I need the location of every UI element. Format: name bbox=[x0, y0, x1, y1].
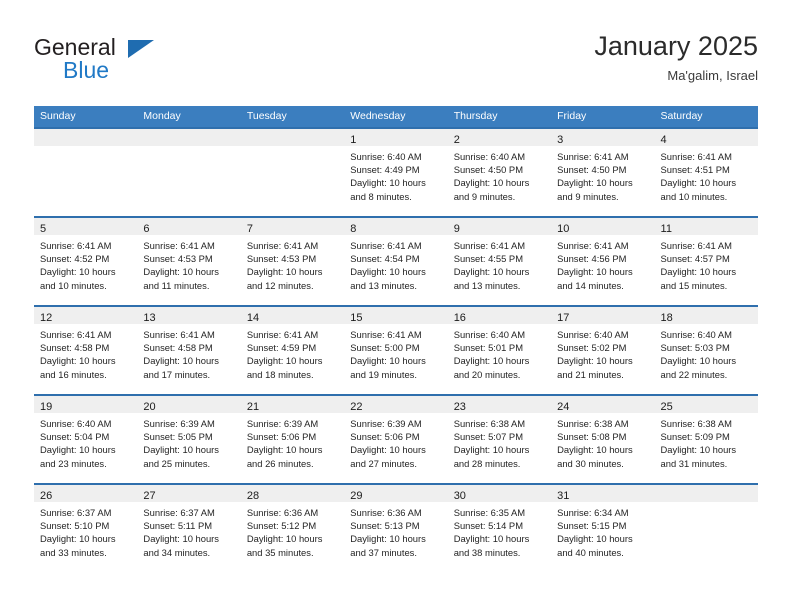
calendar-day-cell[interactable]: 25Sunrise: 6:38 AMSunset: 5:09 PMDayligh… bbox=[655, 394, 758, 483]
sunset-line: Sunset: 4:58 PM bbox=[143, 341, 235, 354]
sunrise-line: Sunrise: 6:41 AM bbox=[40, 239, 132, 252]
sunrise-line: Sunrise: 6:41 AM bbox=[661, 150, 753, 163]
sunset-line: Sunset: 5:08 PM bbox=[557, 430, 649, 443]
daylight-line-2: and 12 minutes. bbox=[247, 279, 339, 292]
sunset-line: Sunset: 4:55 PM bbox=[454, 252, 546, 265]
calendar-day-cell[interactable]: 2Sunrise: 6:40 AMSunset: 4:50 PMDaylight… bbox=[448, 127, 551, 216]
sunrise-line: Sunrise: 6:40 AM bbox=[454, 150, 546, 163]
daylight-line-1: Daylight: 10 hours bbox=[40, 354, 132, 367]
sunrise-line: Sunrise: 6:41 AM bbox=[454, 239, 546, 252]
day-of-week-header: Friday bbox=[551, 106, 654, 127]
day-number: 20 bbox=[143, 401, 155, 413]
daylight-line-1: Daylight: 10 hours bbox=[454, 443, 546, 456]
sunset-line: Sunset: 5:14 PM bbox=[454, 519, 546, 532]
calendar-day-cell-empty[interactable] bbox=[34, 127, 137, 216]
day-number-band: 5 bbox=[34, 218, 137, 235]
title-block: January 2025 Ma'galim, Israel bbox=[594, 30, 758, 85]
sunrise-line: Sunrise: 6:38 AM bbox=[661, 417, 753, 430]
day-number: 10 bbox=[557, 223, 569, 235]
day-detail-lines: Sunrise: 6:36 AMSunset: 5:12 PMDaylight:… bbox=[241, 502, 344, 559]
day-detail-lines: Sunrise: 6:41 AMSunset: 4:55 PMDaylight:… bbox=[448, 235, 551, 292]
daylight-line-2: and 33 minutes. bbox=[40, 546, 132, 559]
daylight-line-2: and 31 minutes. bbox=[661, 457, 753, 470]
sunrise-line: Sunrise: 6:41 AM bbox=[557, 239, 649, 252]
sunset-line: Sunset: 4:58 PM bbox=[40, 341, 132, 354]
day-number: 16 bbox=[454, 312, 466, 324]
day-detail-lines: Sunrise: 6:39 AMSunset: 5:05 PMDaylight:… bbox=[137, 413, 240, 470]
daylight-line-1: Daylight: 10 hours bbox=[247, 265, 339, 278]
day-number-band: 28 bbox=[241, 485, 344, 502]
day-number-band: 19 bbox=[34, 396, 137, 413]
daylight-line-1: Daylight: 10 hours bbox=[350, 354, 442, 367]
day-of-week-header-row: SundayMondayTuesdayWednesdayThursdayFrid… bbox=[34, 106, 758, 127]
day-detail-lines: Sunrise: 6:41 AMSunset: 4:56 PMDaylight:… bbox=[551, 235, 654, 292]
sunrise-line: Sunrise: 6:40 AM bbox=[661, 328, 753, 341]
sunrise-line: Sunrise: 6:41 AM bbox=[557, 150, 649, 163]
sunrise-line: Sunrise: 6:35 AM bbox=[454, 506, 546, 519]
daylight-line-1: Daylight: 10 hours bbox=[661, 176, 753, 189]
daylight-line-2: and 10 minutes. bbox=[40, 279, 132, 292]
day-detail-lines: Sunrise: 6:41 AMSunset: 4:50 PMDaylight:… bbox=[551, 146, 654, 203]
day-detail-lines: Sunrise: 6:40 AMSunset: 5:01 PMDaylight:… bbox=[448, 324, 551, 381]
day-detail-lines: Sunrise: 6:40 AMSunset: 5:02 PMDaylight:… bbox=[551, 324, 654, 381]
sunset-line: Sunset: 5:06 PM bbox=[350, 430, 442, 443]
day-detail-lines: Sunrise: 6:41 AMSunset: 4:52 PMDaylight:… bbox=[34, 235, 137, 292]
day-detail-lines: Sunrise: 6:40 AMSunset: 4:50 PMDaylight:… bbox=[448, 146, 551, 203]
day-number-band: 12 bbox=[34, 307, 137, 324]
calendar-weeks: 1Sunrise: 6:40 AMSunset: 4:49 PMDaylight… bbox=[34, 127, 758, 572]
daylight-line-1: Daylight: 10 hours bbox=[143, 265, 235, 278]
daylight-line-1: Daylight: 10 hours bbox=[557, 265, 649, 278]
day-number-band: 1 bbox=[344, 129, 447, 146]
calendar-day-cell[interactable]: 22Sunrise: 6:39 AMSunset: 5:06 PMDayligh… bbox=[344, 394, 447, 483]
calendar-day-cell[interactable]: 15Sunrise: 6:41 AMSunset: 5:00 PMDayligh… bbox=[344, 305, 447, 394]
daylight-line-1: Daylight: 10 hours bbox=[661, 443, 753, 456]
day-detail-lines bbox=[241, 146, 344, 150]
sunset-line: Sunset: 4:57 PM bbox=[661, 252, 753, 265]
day-number-band: 16 bbox=[448, 307, 551, 324]
calendar-day-cell[interactable]: 10Sunrise: 6:41 AMSunset: 4:56 PMDayligh… bbox=[551, 216, 654, 305]
day-number-band: 25 bbox=[655, 396, 758, 413]
calendar-day-cell[interactable]: 26Sunrise: 6:37 AMSunset: 5:10 PMDayligh… bbox=[34, 483, 137, 572]
day-number-band bbox=[241, 129, 344, 146]
calendar-day-cell[interactable]: 23Sunrise: 6:38 AMSunset: 5:07 PMDayligh… bbox=[448, 394, 551, 483]
day-number-band: 26 bbox=[34, 485, 137, 502]
sunrise-line: Sunrise: 6:41 AM bbox=[143, 239, 235, 252]
day-number: 7 bbox=[247, 223, 253, 235]
daylight-line-2: and 34 minutes. bbox=[143, 546, 235, 559]
daylight-line-1: Daylight: 10 hours bbox=[454, 354, 546, 367]
daylight-line-1: Daylight: 10 hours bbox=[454, 176, 546, 189]
daylight-line-2: and 27 minutes. bbox=[350, 457, 442, 470]
logo-text-blue: Blue bbox=[63, 57, 109, 83]
calendar-week-row: 1Sunrise: 6:40 AMSunset: 4:49 PMDaylight… bbox=[34, 127, 758, 216]
day-number: 25 bbox=[661, 401, 673, 413]
sunset-line: Sunset: 5:15 PM bbox=[557, 519, 649, 532]
day-number-band: 10 bbox=[551, 218, 654, 235]
daylight-line-1: Daylight: 10 hours bbox=[40, 532, 132, 545]
sunrise-line: Sunrise: 6:38 AM bbox=[454, 417, 546, 430]
daylight-line-1: Daylight: 10 hours bbox=[557, 443, 649, 456]
sunrise-line: Sunrise: 6:41 AM bbox=[40, 328, 132, 341]
daylight-line-1: Daylight: 10 hours bbox=[661, 354, 753, 367]
daylight-line-2: and 22 minutes. bbox=[661, 368, 753, 381]
daylight-line-2: and 38 minutes. bbox=[454, 546, 546, 559]
sunrise-line: Sunrise: 6:41 AM bbox=[143, 328, 235, 341]
sunrise-line: Sunrise: 6:40 AM bbox=[557, 328, 649, 341]
daylight-line-2: and 10 minutes. bbox=[661, 190, 753, 203]
day-number-band: 3 bbox=[551, 129, 654, 146]
sunrise-line: Sunrise: 6:40 AM bbox=[454, 328, 546, 341]
day-detail-lines: Sunrise: 6:36 AMSunset: 5:13 PMDaylight:… bbox=[344, 502, 447, 559]
daylight-line-1: Daylight: 10 hours bbox=[454, 532, 546, 545]
day-detail-lines: Sunrise: 6:41 AMSunset: 4:53 PMDaylight:… bbox=[137, 235, 240, 292]
day-detail-lines: Sunrise: 6:40 AMSunset: 4:49 PMDaylight:… bbox=[344, 146, 447, 203]
day-number-band: 29 bbox=[344, 485, 447, 502]
calendar-day-cell[interactable]: 24Sunrise: 6:38 AMSunset: 5:08 PMDayligh… bbox=[551, 394, 654, 483]
sunrise-line: Sunrise: 6:36 AM bbox=[247, 506, 339, 519]
calendar-day-cell[interactable]: 6Sunrise: 6:41 AMSunset: 4:53 PMDaylight… bbox=[137, 216, 240, 305]
calendar-day-cell[interactable]: 13Sunrise: 6:41 AMSunset: 4:58 PMDayligh… bbox=[137, 305, 240, 394]
day-number-band bbox=[34, 129, 137, 146]
calendar-day-cell[interactable]: 8Sunrise: 6:41 AMSunset: 4:54 PMDaylight… bbox=[344, 216, 447, 305]
day-number: 28 bbox=[247, 490, 259, 502]
daylight-line-1: Daylight: 10 hours bbox=[247, 532, 339, 545]
calendar-day-cell[interactable]: 11Sunrise: 6:41 AMSunset: 4:57 PMDayligh… bbox=[655, 216, 758, 305]
day-number: 24 bbox=[557, 401, 569, 413]
day-number: 21 bbox=[247, 401, 259, 413]
day-number-band: 20 bbox=[137, 396, 240, 413]
daylight-line-1: Daylight: 10 hours bbox=[661, 265, 753, 278]
calendar-day-cell[interactable]: 27Sunrise: 6:37 AMSunset: 5:11 PMDayligh… bbox=[137, 483, 240, 572]
day-number-band: 15 bbox=[344, 307, 447, 324]
daylight-line-1: Daylight: 10 hours bbox=[350, 265, 442, 278]
calendar-day-cell[interactable]: 29Sunrise: 6:36 AMSunset: 5:13 PMDayligh… bbox=[344, 483, 447, 572]
day-number: 18 bbox=[661, 312, 673, 324]
sunrise-line: Sunrise: 6:38 AM bbox=[557, 417, 649, 430]
day-number-band: 31 bbox=[551, 485, 654, 502]
calendar-day-cell[interactable]: 16Sunrise: 6:40 AMSunset: 5:01 PMDayligh… bbox=[448, 305, 551, 394]
day-detail-lines: Sunrise: 6:35 AMSunset: 5:14 PMDaylight:… bbox=[448, 502, 551, 559]
sunset-line: Sunset: 5:13 PM bbox=[350, 519, 442, 532]
day-number: 1 bbox=[350, 134, 356, 146]
daylight-line-2: and 13 minutes. bbox=[350, 279, 442, 292]
calendar-day-cell-empty[interactable] bbox=[655, 483, 758, 572]
day-detail-lines: Sunrise: 6:40 AMSunset: 5:04 PMDaylight:… bbox=[34, 413, 137, 470]
daylight-line-2: and 14 minutes. bbox=[557, 279, 649, 292]
calendar-day-cell[interactable]: 14Sunrise: 6:41 AMSunset: 4:59 PMDayligh… bbox=[241, 305, 344, 394]
day-number-band: 11 bbox=[655, 218, 758, 235]
day-detail-lines: Sunrise: 6:39 AMSunset: 5:06 PMDaylight:… bbox=[344, 413, 447, 470]
day-number: 14 bbox=[247, 312, 259, 324]
sunrise-line: Sunrise: 6:41 AM bbox=[350, 328, 442, 341]
day-number-band: 4 bbox=[655, 129, 758, 146]
calendar-day-cell[interactable]: 3Sunrise: 6:41 AMSunset: 4:50 PMDaylight… bbox=[551, 127, 654, 216]
sunrise-line: Sunrise: 6:39 AM bbox=[350, 417, 442, 430]
logo-triangle-icon bbox=[128, 40, 154, 58]
daylight-line-1: Daylight: 10 hours bbox=[40, 443, 132, 456]
day-number-band: 14 bbox=[241, 307, 344, 324]
daylight-line-1: Daylight: 10 hours bbox=[247, 443, 339, 456]
daylight-line-2: and 8 minutes. bbox=[350, 190, 442, 203]
calendar-grid: SundayMondayTuesdayWednesdayThursdayFrid… bbox=[34, 106, 758, 572]
day-number-band: 7 bbox=[241, 218, 344, 235]
calendar-day-cell[interactable]: 1Sunrise: 6:40 AMSunset: 4:49 PMDaylight… bbox=[344, 127, 447, 216]
day-detail-lines: Sunrise: 6:41 AMSunset: 4:53 PMDaylight:… bbox=[241, 235, 344, 292]
daylight-line-2: and 26 minutes. bbox=[247, 457, 339, 470]
sunset-line: Sunset: 4:53 PM bbox=[143, 252, 235, 265]
page-header: General Blue January 2025 Ma'galim, Isra… bbox=[34, 30, 758, 96]
daylight-line-2: and 20 minutes. bbox=[454, 368, 546, 381]
day-number: 2 bbox=[454, 134, 460, 146]
daylight-line-2: and 9 minutes. bbox=[454, 190, 546, 203]
sunset-line: Sunset: 5:03 PM bbox=[661, 341, 753, 354]
sunset-line: Sunset: 5:00 PM bbox=[350, 341, 442, 354]
day-detail-lines: Sunrise: 6:37 AMSunset: 5:10 PMDaylight:… bbox=[34, 502, 137, 559]
day-detail-lines: Sunrise: 6:41 AMSunset: 4:54 PMDaylight:… bbox=[344, 235, 447, 292]
sunrise-line: Sunrise: 6:41 AM bbox=[247, 239, 339, 252]
daylight-line-2: and 23 minutes. bbox=[40, 457, 132, 470]
daylight-line-2: and 30 minutes. bbox=[557, 457, 649, 470]
calendar-week-row: 26Sunrise: 6:37 AMSunset: 5:10 PMDayligh… bbox=[34, 483, 758, 572]
day-number: 31 bbox=[557, 490, 569, 502]
day-number-band: 13 bbox=[137, 307, 240, 324]
daylight-line-1: Daylight: 10 hours bbox=[557, 532, 649, 545]
sunset-line: Sunset: 5:01 PM bbox=[454, 341, 546, 354]
day-of-week-header: Saturday bbox=[655, 106, 758, 127]
sunset-line: Sunset: 5:02 PM bbox=[557, 341, 649, 354]
sunset-line: Sunset: 4:51 PM bbox=[661, 163, 753, 176]
sunrise-line: Sunrise: 6:39 AM bbox=[143, 417, 235, 430]
calendar-week-row: 5Sunrise: 6:41 AMSunset: 4:52 PMDaylight… bbox=[34, 216, 758, 305]
calendar-day-cell[interactable]: 17Sunrise: 6:40 AMSunset: 5:02 PMDayligh… bbox=[551, 305, 654, 394]
sunrise-line: Sunrise: 6:37 AM bbox=[40, 506, 132, 519]
daylight-line-1: Daylight: 10 hours bbox=[557, 176, 649, 189]
calendar-day-cell[interactable]: 31Sunrise: 6:34 AMSunset: 5:15 PMDayligh… bbox=[551, 483, 654, 572]
day-detail-lines: Sunrise: 6:40 AMSunset: 5:03 PMDaylight:… bbox=[655, 324, 758, 381]
day-detail-lines: Sunrise: 6:34 AMSunset: 5:15 PMDaylight:… bbox=[551, 502, 654, 559]
day-number: 19 bbox=[40, 401, 52, 413]
day-number: 5 bbox=[40, 223, 46, 235]
calendar-day-cell[interactable]: 5Sunrise: 6:41 AMSunset: 4:52 PMDaylight… bbox=[34, 216, 137, 305]
day-number-band: 17 bbox=[551, 307, 654, 324]
daylight-line-2: and 21 minutes. bbox=[557, 368, 649, 381]
day-number: 17 bbox=[557, 312, 569, 324]
daylight-line-2: and 11 minutes. bbox=[143, 279, 235, 292]
daylight-line-1: Daylight: 10 hours bbox=[143, 354, 235, 367]
day-number-band: 30 bbox=[448, 485, 551, 502]
day-detail-lines bbox=[34, 146, 137, 150]
day-number-band: 21 bbox=[241, 396, 344, 413]
day-detail-lines: Sunrise: 6:38 AMSunset: 5:07 PMDaylight:… bbox=[448, 413, 551, 470]
sunset-line: Sunset: 4:50 PM bbox=[454, 163, 546, 176]
day-number: 11 bbox=[661, 223, 672, 235]
day-number-band: 8 bbox=[344, 218, 447, 235]
daylight-line-1: Daylight: 10 hours bbox=[557, 354, 649, 367]
daylight-line-1: Daylight: 10 hours bbox=[454, 265, 546, 278]
day-number-band: 2 bbox=[448, 129, 551, 146]
sunset-line: Sunset: 4:56 PM bbox=[557, 252, 649, 265]
day-number-band: 24 bbox=[551, 396, 654, 413]
daylight-line-2: and 13 minutes. bbox=[454, 279, 546, 292]
sunset-line: Sunset: 5:04 PM bbox=[40, 430, 132, 443]
calendar-day-cell[interactable]: 18Sunrise: 6:40 AMSunset: 5:03 PMDayligh… bbox=[655, 305, 758, 394]
day-number: 30 bbox=[454, 490, 466, 502]
sunset-line: Sunset: 5:11 PM bbox=[143, 519, 235, 532]
day-of-week-header: Monday bbox=[137, 106, 240, 127]
day-detail-lines: Sunrise: 6:41 AMSunset: 4:51 PMDaylight:… bbox=[655, 146, 758, 203]
day-number: 13 bbox=[143, 312, 155, 324]
location-subtitle: Ma'galim, Israel bbox=[594, 67, 758, 85]
day-number-band bbox=[137, 129, 240, 146]
sunset-line: Sunset: 4:53 PM bbox=[247, 252, 339, 265]
sunset-line: Sunset: 5:05 PM bbox=[143, 430, 235, 443]
calendar-day-cell[interactable]: 19Sunrise: 6:40 AMSunset: 5:04 PMDayligh… bbox=[34, 394, 137, 483]
day-number-band: 6 bbox=[137, 218, 240, 235]
sunset-line: Sunset: 4:59 PM bbox=[247, 341, 339, 354]
sunrise-line: Sunrise: 6:40 AM bbox=[350, 150, 442, 163]
day-number-band: 23 bbox=[448, 396, 551, 413]
page-title: January 2025 bbox=[594, 30, 758, 62]
sunrise-line: Sunrise: 6:41 AM bbox=[247, 328, 339, 341]
calendar-day-cell[interactable]: 4Sunrise: 6:41 AMSunset: 4:51 PMDaylight… bbox=[655, 127, 758, 216]
day-number-band: 18 bbox=[655, 307, 758, 324]
sunrise-line: Sunrise: 6:41 AM bbox=[350, 239, 442, 252]
day-detail-lines: Sunrise: 6:41 AMSunset: 4:58 PMDaylight:… bbox=[34, 324, 137, 381]
daylight-line-2: and 18 minutes. bbox=[247, 368, 339, 381]
sunrise-line: Sunrise: 6:40 AM bbox=[40, 417, 132, 430]
sunrise-line: Sunrise: 6:41 AM bbox=[661, 239, 753, 252]
sunset-line: Sunset: 4:54 PM bbox=[350, 252, 442, 265]
daylight-line-2: and 40 minutes. bbox=[557, 546, 649, 559]
sunrise-line: Sunrise: 6:37 AM bbox=[143, 506, 235, 519]
daylight-line-1: Daylight: 10 hours bbox=[143, 532, 235, 545]
calendar-week-row: 19Sunrise: 6:40 AMSunset: 5:04 PMDayligh… bbox=[34, 394, 758, 483]
day-number: 8 bbox=[350, 223, 356, 235]
day-detail-lines: Sunrise: 6:41 AMSunset: 4:58 PMDaylight:… bbox=[137, 324, 240, 381]
daylight-line-2: and 16 minutes. bbox=[40, 368, 132, 381]
daylight-line-2: and 17 minutes. bbox=[143, 368, 235, 381]
day-detail-lines: Sunrise: 6:41 AMSunset: 4:59 PMDaylight:… bbox=[241, 324, 344, 381]
daylight-line-2: and 15 minutes. bbox=[661, 279, 753, 292]
daylight-line-1: Daylight: 10 hours bbox=[350, 443, 442, 456]
day-number: 15 bbox=[350, 312, 362, 324]
daylight-line-2: and 28 minutes. bbox=[454, 457, 546, 470]
calendar-day-cell[interactable]: 7Sunrise: 6:41 AMSunset: 4:53 PMDaylight… bbox=[241, 216, 344, 305]
day-detail-lines: Sunrise: 6:38 AMSunset: 5:08 PMDaylight:… bbox=[551, 413, 654, 470]
day-number: 12 bbox=[40, 312, 52, 324]
calendar-day-cell[interactable]: 30Sunrise: 6:35 AMSunset: 5:14 PMDayligh… bbox=[448, 483, 551, 572]
sunset-line: Sunset: 4:52 PM bbox=[40, 252, 132, 265]
sunset-line: Sunset: 5:07 PM bbox=[454, 430, 546, 443]
calendar-day-cell[interactable]: 20Sunrise: 6:39 AMSunset: 5:05 PMDayligh… bbox=[137, 394, 240, 483]
day-number: 6 bbox=[143, 223, 149, 235]
day-number: 9 bbox=[454, 223, 460, 235]
general-blue-logo: General Blue bbox=[34, 34, 244, 92]
day-detail-lines: Sunrise: 6:41 AMSunset: 4:57 PMDaylight:… bbox=[655, 235, 758, 292]
daylight-line-1: Daylight: 10 hours bbox=[40, 265, 132, 278]
day-detail-lines: Sunrise: 6:38 AMSunset: 5:09 PMDaylight:… bbox=[655, 413, 758, 470]
day-number: 4 bbox=[661, 134, 667, 146]
daylight-line-2: and 9 minutes. bbox=[557, 190, 649, 203]
day-number: 3 bbox=[557, 134, 563, 146]
daylight-line-2: and 37 minutes. bbox=[350, 546, 442, 559]
sunset-line: Sunset: 5:06 PM bbox=[247, 430, 339, 443]
day-number: 26 bbox=[40, 490, 52, 502]
day-of-week-header: Wednesday bbox=[344, 106, 447, 127]
sunrise-line: Sunrise: 6:36 AM bbox=[350, 506, 442, 519]
day-number: 22 bbox=[350, 401, 362, 413]
calendar-day-cell[interactable]: 9Sunrise: 6:41 AMSunset: 4:55 PMDaylight… bbox=[448, 216, 551, 305]
day-number-band: 27 bbox=[137, 485, 240, 502]
sunrise-line: Sunrise: 6:34 AM bbox=[557, 506, 649, 519]
day-number: 27 bbox=[143, 490, 155, 502]
day-of-week-header: Sunday bbox=[34, 106, 137, 127]
calendar-page: General Blue January 2025 Ma'galim, Isra… bbox=[0, 0, 792, 612]
daylight-line-1: Daylight: 10 hours bbox=[143, 443, 235, 456]
daylight-line-1: Daylight: 10 hours bbox=[350, 532, 442, 545]
calendar-day-cell[interactable]: 12Sunrise: 6:41 AMSunset: 4:58 PMDayligh… bbox=[34, 305, 137, 394]
calendar-day-cell[interactable]: 21Sunrise: 6:39 AMSunset: 5:06 PMDayligh… bbox=[241, 394, 344, 483]
daylight-line-1: Daylight: 10 hours bbox=[350, 176, 442, 189]
calendar-day-cell-empty[interactable] bbox=[137, 127, 240, 216]
day-detail-lines: Sunrise: 6:41 AMSunset: 5:00 PMDaylight:… bbox=[344, 324, 447, 381]
sunrise-line: Sunrise: 6:39 AM bbox=[247, 417, 339, 430]
daylight-line-2: and 35 minutes. bbox=[247, 546, 339, 559]
daylight-line-2: and 25 minutes. bbox=[143, 457, 235, 470]
sunset-line: Sunset: 4:49 PM bbox=[350, 163, 442, 176]
daylight-line-2: and 19 minutes. bbox=[350, 368, 442, 381]
calendar-day-cell[interactable]: 28Sunrise: 6:36 AMSunset: 5:12 PMDayligh… bbox=[241, 483, 344, 572]
calendar-week-row: 12Sunrise: 6:41 AMSunset: 4:58 PMDayligh… bbox=[34, 305, 758, 394]
sunset-line: Sunset: 5:10 PM bbox=[40, 519, 132, 532]
day-of-week-header: Thursday bbox=[448, 106, 551, 127]
day-detail-lines: Sunrise: 6:37 AMSunset: 5:11 PMDaylight:… bbox=[137, 502, 240, 559]
day-number-band: 9 bbox=[448, 218, 551, 235]
day-of-week-header: Tuesday bbox=[241, 106, 344, 127]
day-number: 29 bbox=[350, 490, 362, 502]
sunset-line: Sunset: 5:09 PM bbox=[661, 430, 753, 443]
day-number: 23 bbox=[454, 401, 466, 413]
sunset-line: Sunset: 4:50 PM bbox=[557, 163, 649, 176]
daylight-line-1: Daylight: 10 hours bbox=[247, 354, 339, 367]
day-number-band bbox=[655, 485, 758, 502]
sunset-line: Sunset: 5:12 PM bbox=[247, 519, 339, 532]
day-detail-lines: Sunrise: 6:39 AMSunset: 5:06 PMDaylight:… bbox=[241, 413, 344, 470]
calendar-day-cell-empty[interactable] bbox=[241, 127, 344, 216]
day-detail-lines bbox=[655, 502, 758, 506]
day-detail-lines bbox=[137, 146, 240, 150]
day-number-band: 22 bbox=[344, 396, 447, 413]
